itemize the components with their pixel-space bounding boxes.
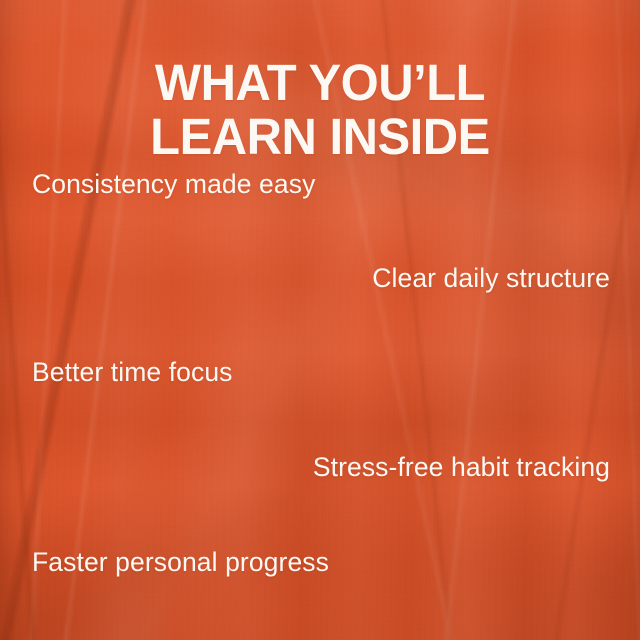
bullet-item-1: Consistency made easy xyxy=(32,169,315,199)
bullet-item-4: Stress-free habit tracking xyxy=(313,452,610,482)
headline-line-2: LEARN INSIDE xyxy=(13,110,627,164)
poster-content: WHAT YOU’LL LEARN INSIDE Consistency mad… xyxy=(0,0,640,640)
bullet-item-3: Better time focus xyxy=(32,357,233,387)
poster-headline: WHAT YOU’LL LEARN INSIDE xyxy=(13,56,627,164)
bullet-item-5: Faster personal progress xyxy=(32,547,329,577)
headline-line-1: WHAT YOU’LL xyxy=(13,56,627,110)
poster-canvas: WHAT YOU’LL LEARN INSIDE Consistency mad… xyxy=(0,0,640,640)
bullet-item-2: Clear daily structure xyxy=(372,263,610,293)
